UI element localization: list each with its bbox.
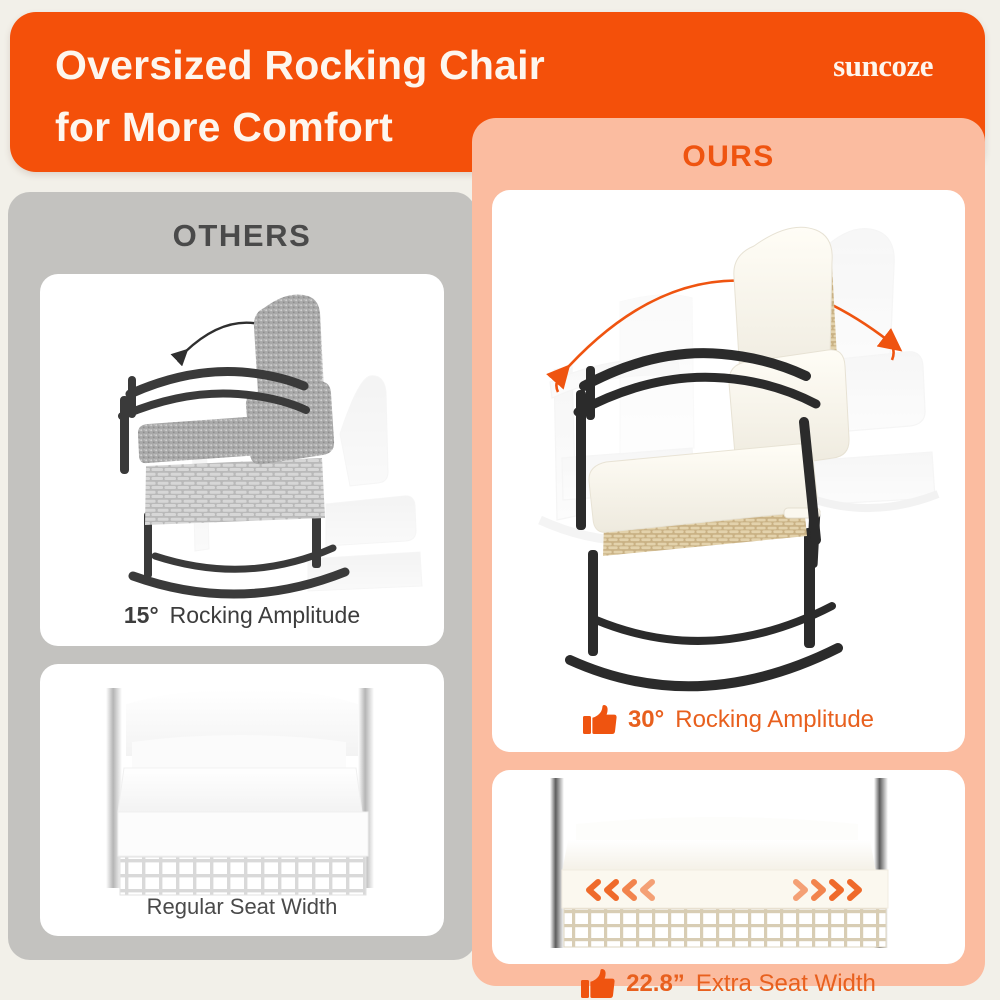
ours-rocking-label: Rocking Amplitude — [675, 706, 874, 734]
thumbs-up-icon — [583, 705, 617, 735]
others-label: OTHERS — [8, 218, 476, 254]
page-title-line-1: Oversized Rocking Chair — [55, 34, 675, 96]
others-rocking-label: Rocking Amplitude — [170, 602, 361, 629]
ours-chair-illustration — [492, 190, 965, 752]
ours-rocking-value: 30° — [628, 706, 664, 734]
ours-seat-card — [492, 770, 965, 964]
others-rocking-value: 15° — [124, 602, 159, 629]
ours-seat-label: Extra Seat Width — [696, 970, 876, 998]
others-seat-card: Regular Seat Width — [40, 664, 444, 936]
ours-rocking-card: 30° Rocking Amplitude — [492, 190, 965, 752]
ours-seat-value: 22.8” — [626, 970, 685, 998]
others-rocking-caption: 15° Rocking Amplitude — [40, 584, 444, 646]
ours-seat-caption: 22.8” Extra Seat Width — [492, 964, 965, 1000]
ours-rocking-caption: 30° Rocking Amplitude — [492, 688, 965, 752]
others-panel: OTHERS — [8, 192, 476, 960]
others-seat-label: Regular Seat Width — [147, 894, 338, 920]
others-seat-caption: Regular Seat Width — [40, 878, 444, 936]
ours-label: OURS — [472, 140, 985, 174]
others-rocking-card: 15° Rocking Amplitude — [40, 274, 444, 646]
infographic-root: Oversized Rocking Chair for More Comfort… — [0, 0, 1000, 1000]
brand-logo: suncoze — [833, 48, 933, 84]
ours-seat-illustration — [492, 770, 965, 964]
ours-panel: OURS — [472, 118, 985, 986]
thumbs-up-icon-2 — [581, 969, 615, 999]
